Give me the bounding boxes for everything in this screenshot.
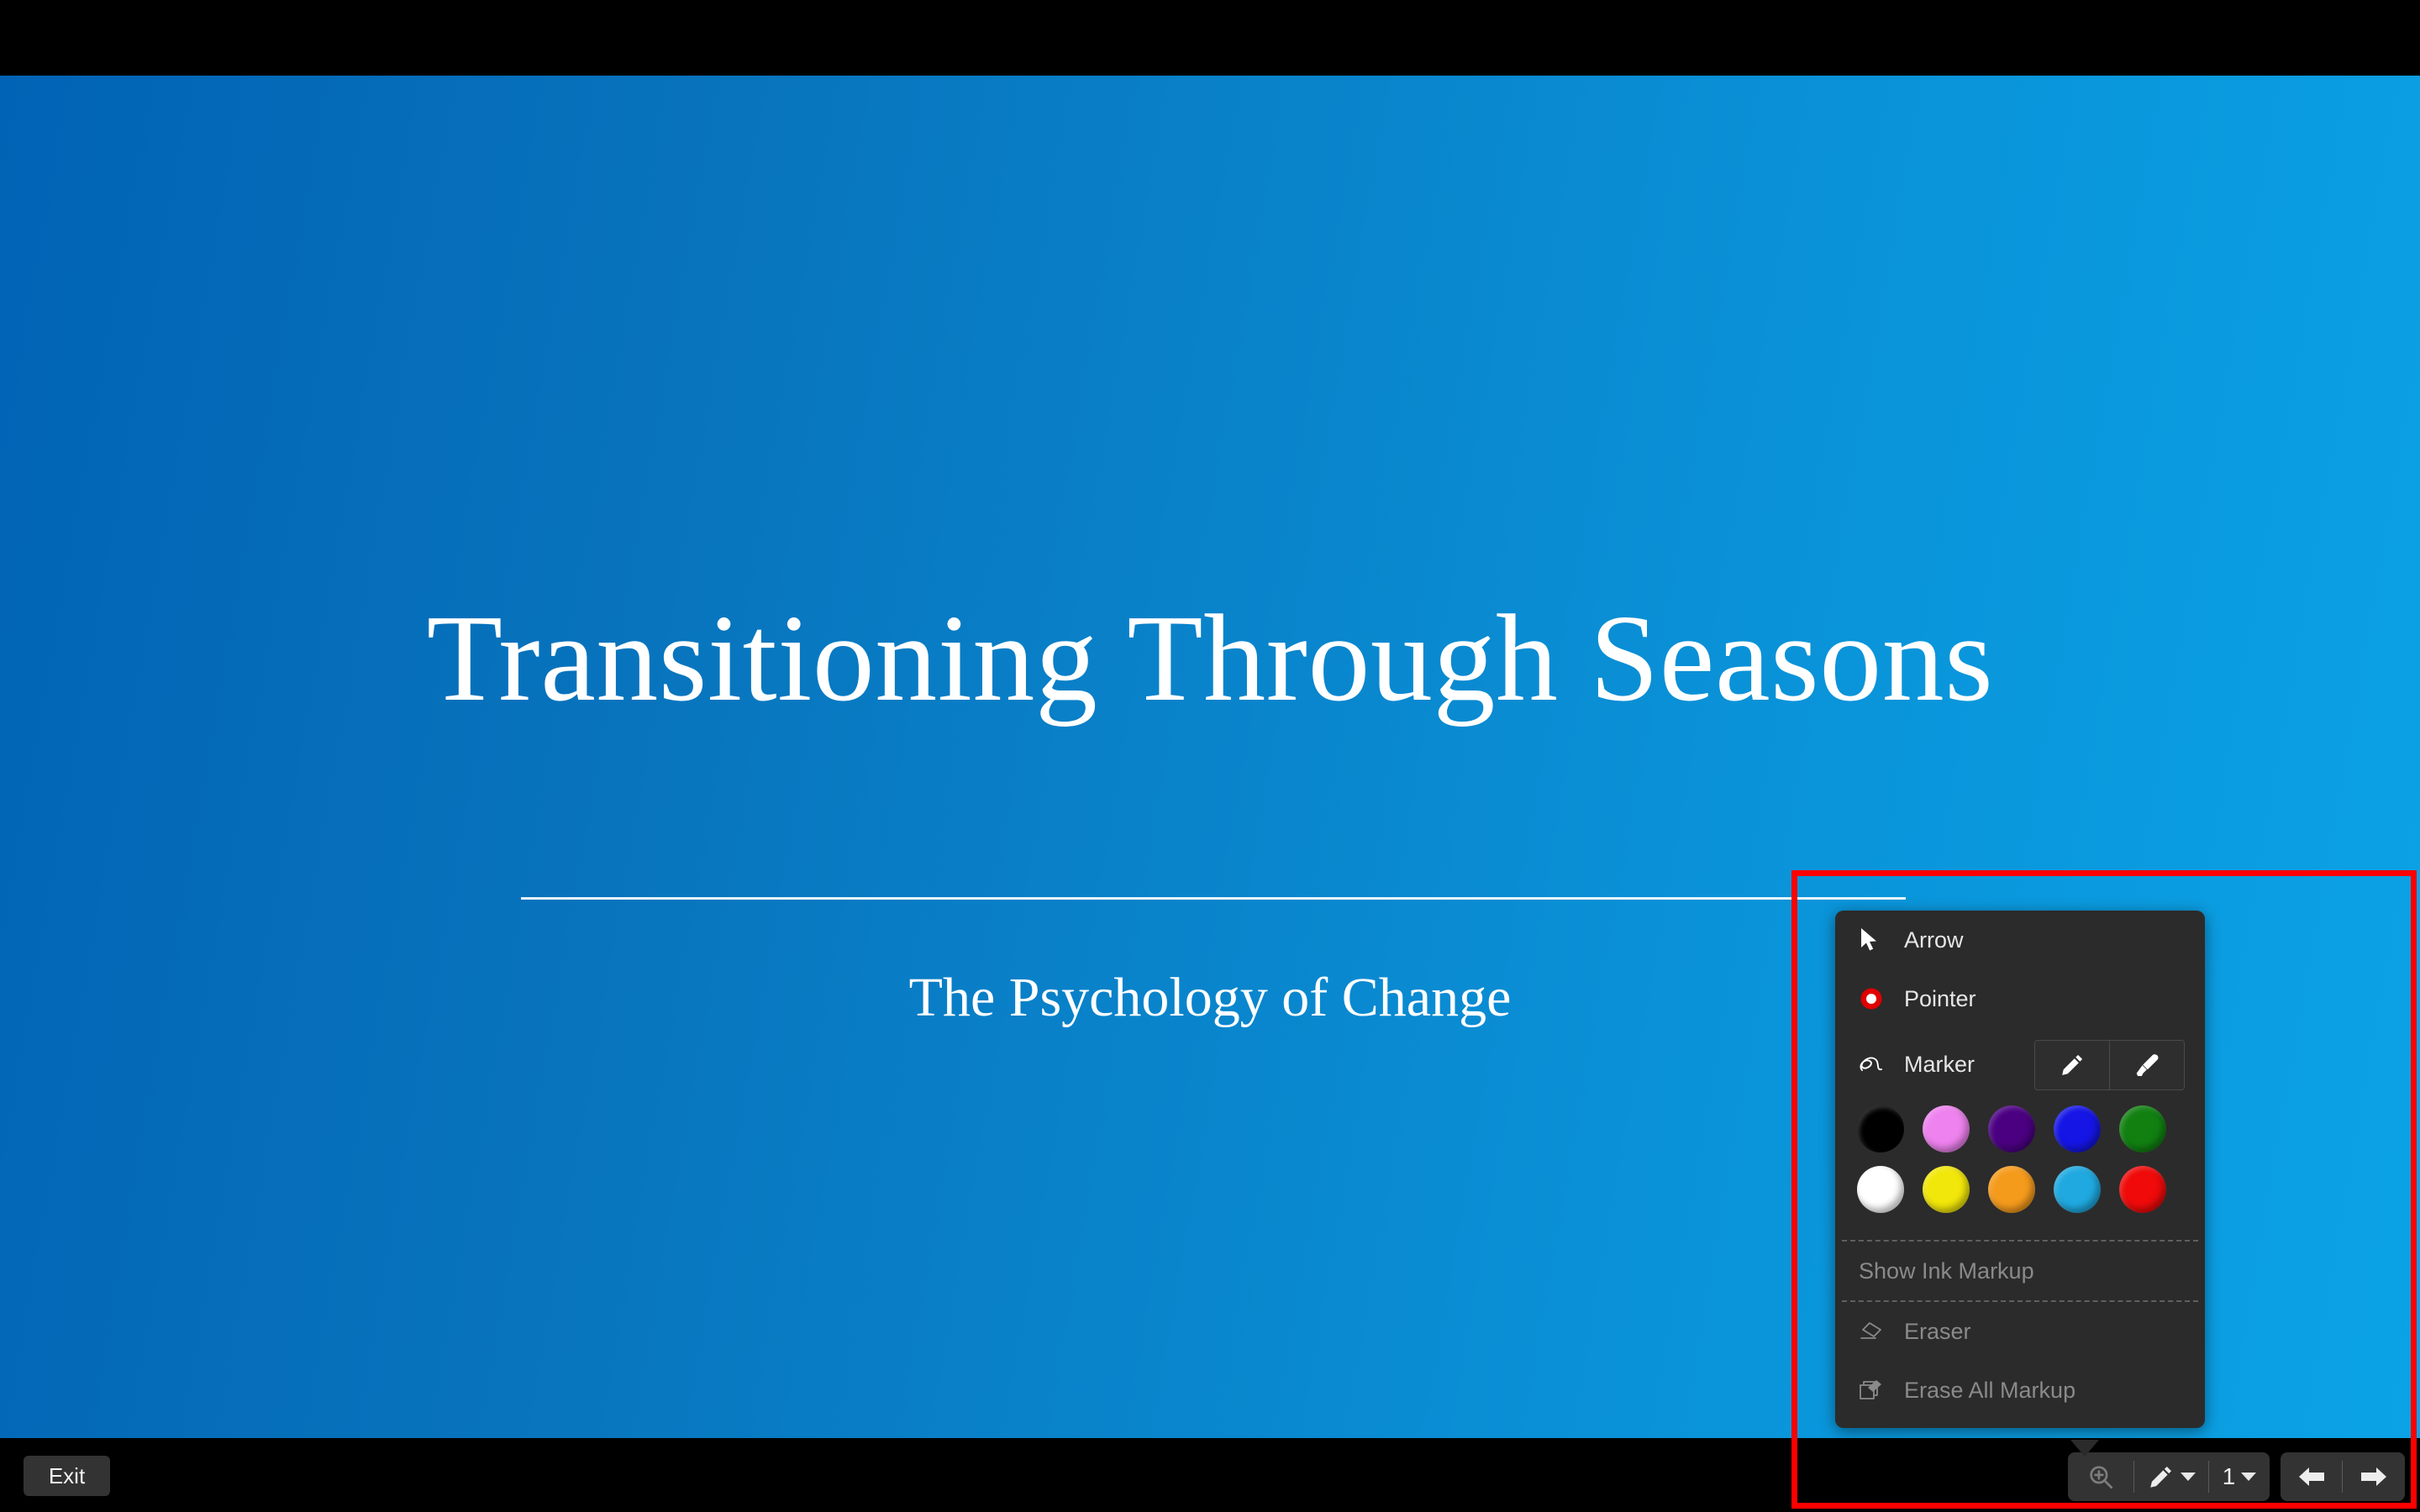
pen-style-highlighter-button[interactable] [2109, 1041, 2184, 1089]
chevron-down-icon [2181, 1473, 2196, 1481]
arrow-right-icon [2358, 1464, 2390, 1489]
menu-item-label: Pointer [1904, 986, 1976, 1012]
menu-item-label: Eraser [1904, 1319, 1971, 1345]
ink-options-menu[interactable]: Arrow Pointer Marker [1835, 911, 2205, 1428]
exit-button[interactable]: Exit [24, 1456, 110, 1496]
presentation-control-bar: Exit 1 [0, 1438, 2420, 1512]
highlighter-icon [2133, 1051, 2161, 1079]
color-swatch-orange[interactable] [1988, 1166, 2035, 1213]
menu-item-arrow[interactable]: Arrow [1835, 911, 2205, 969]
previous-slide-button[interactable] [2281, 1452, 2342, 1501]
tools-toolbar: 1 [2068, 1452, 2270, 1501]
pen-style-pen-button[interactable] [2035, 1041, 2109, 1089]
chevron-down-icon [2241, 1473, 2256, 1481]
pen-style-toggle [2034, 1040, 2185, 1090]
color-swatch-white[interactable] [1857, 1166, 1904, 1213]
navigation-toolbar [2281, 1452, 2405, 1501]
color-swatch-black[interactable] [1857, 1105, 1904, 1152]
menu-item-label: Marker [1904, 1052, 1975, 1078]
title-divider [521, 897, 1906, 900]
color-swatch-green[interactable] [2119, 1105, 2166, 1152]
color-row-1 [1857, 1105, 2205, 1152]
next-slide-button[interactable] [2343, 1452, 2405, 1501]
page-title: Transitioning Through Seasons [0, 596, 2420, 721]
zoom-in-icon [2086, 1462, 2115, 1491]
menu-item-pointer[interactable]: Pointer [1835, 969, 2205, 1028]
color-swatch-violet[interactable] [1923, 1105, 1970, 1152]
presentation-stage: Transitioning Through Seasons The Psycho… [0, 0, 2420, 1512]
menu-item-label: Show Ink Markup [1859, 1258, 2034, 1284]
menu-item-erase-all-markup[interactable]: Erase All Markup [1835, 1361, 2205, 1420]
zoom-in-button[interactable] [2068, 1452, 2133, 1501]
color-swatch-sky-blue[interactable] [2054, 1166, 2101, 1213]
pen-tool-button[interactable] [2134, 1452, 2208, 1501]
page-number-button[interactable]: 1 [2209, 1452, 2270, 1501]
color-swatch-purple[interactable] [1988, 1105, 2035, 1152]
menu-item-eraser[interactable]: Eraser [1835, 1302, 2205, 1361]
menu-item-show-ink-markup[interactable]: Show Ink Markup [1835, 1242, 2205, 1300]
marker-squiggle-icon [1859, 1053, 1892, 1075]
color-row-2 [1857, 1166, 2205, 1213]
ink-color-palette [1835, 1100, 2205, 1240]
color-swatch-red[interactable] [2119, 1166, 2166, 1213]
pen-icon [2059, 1052, 2086, 1079]
erase-all-icon [1859, 1378, 1892, 1402]
exit-button-label: Exit [49, 1463, 85, 1489]
eraser-icon [1859, 1320, 1892, 1342]
color-swatch-yellow[interactable] [1923, 1166, 1970, 1213]
ink-menu-pointer-tail [2070, 1440, 2099, 1457]
cursor-arrow-icon [1859, 927, 1892, 953]
menu-item-label: Erase All Markup [1904, 1378, 2075, 1404]
menu-item-label: Arrow [1904, 927, 1964, 953]
color-swatch-blue[interactable] [2054, 1105, 2101, 1152]
menu-item-marker[interactable]: Marker [1835, 1028, 2205, 1100]
laser-pointer-icon [1859, 986, 1892, 1011]
page-number-label: 1 [2223, 1465, 2236, 1488]
pen-icon [2147, 1463, 2175, 1491]
arrow-left-icon [2296, 1464, 2328, 1489]
